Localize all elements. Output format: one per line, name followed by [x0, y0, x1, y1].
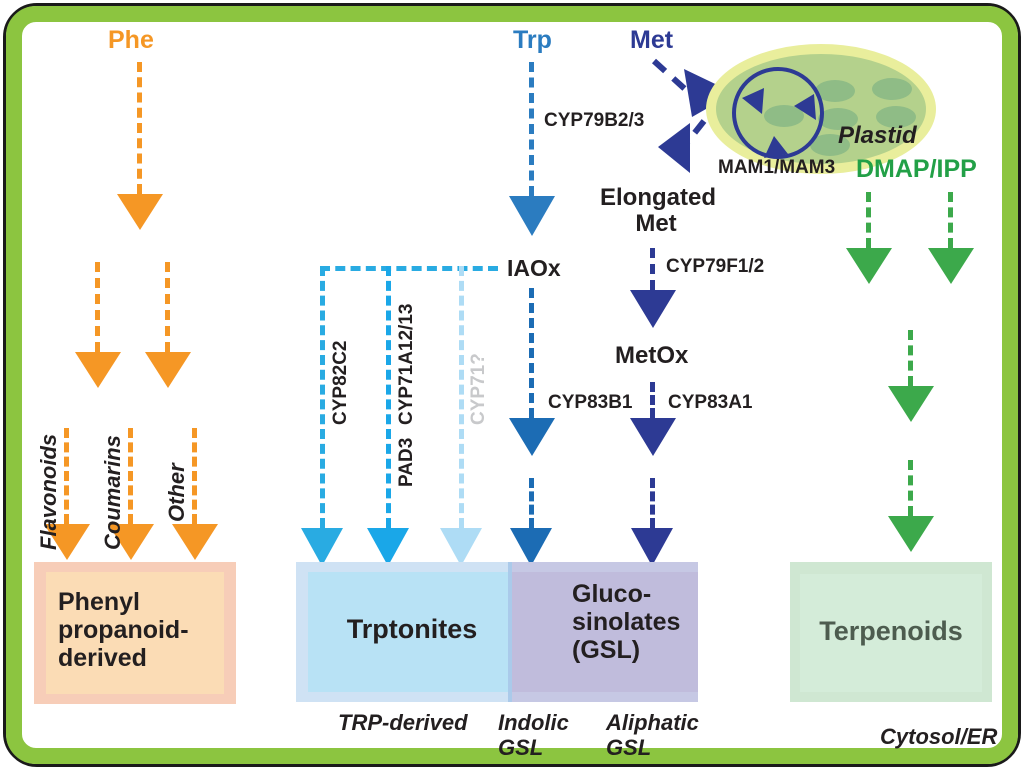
caption-aliphatic-gsl: Aliphatic GSL — [606, 710, 699, 761]
caption-aliphatic-gsl-line-1: Aliphatic — [606, 710, 699, 735]
phe-arrow-stem-2b — [165, 262, 170, 352]
intermediate-label-metox: MetOx — [615, 342, 688, 370]
phe-arrowhead-2b — [145, 352, 191, 388]
cyp83a1-stem-1 — [650, 382, 655, 418]
dmap-arrow-stem — [866, 192, 871, 248]
cyp83a1-stem-2 — [650, 478, 655, 528]
terpenoid-arrow-stem-2 — [908, 330, 913, 386]
branch-label-other: Other — [164, 463, 190, 522]
dmap-arrowhead — [846, 248, 892, 284]
organelle-label-plastid: Plastid — [838, 122, 917, 150]
caption-indolic-gsl-line-1: Indolic — [498, 710, 569, 735]
cyp83a1-arrowhead-1 — [630, 418, 676, 456]
phe-arrow-stem-3a — [64, 428, 69, 524]
caption-aliphatic-gsl-line-2: GSL — [606, 735, 699, 760]
elongated-met-line-2: Met — [600, 211, 712, 237]
branch-label-flavonoids: Flavonoids — [36, 434, 62, 550]
enzyme-label-cyp79b2-3: CYP79B2/3 — [544, 110, 644, 132]
trp-arrow-stem — [529, 62, 534, 196]
cyp79f1-2-stem — [650, 248, 655, 290]
gsl-line-2: sinolates — [572, 608, 702, 636]
enzyme-label-cyp83b1: CYP83B1 — [548, 392, 633, 414]
phe-arrowhead-2a — [75, 352, 121, 388]
enzyme-label-mam1-mam3: MAM1/MAM3 — [718, 157, 835, 179]
branch-label-coumarins: Coumarins — [100, 435, 126, 550]
mam-elongation-cycle — [718, 58, 838, 168]
precursor-label-dmap-ipp: DMAP/IPP — [856, 155, 977, 184]
intermediate-label-iaox: IAOx — [507, 255, 561, 282]
phe-arrow-stem-1 — [137, 62, 142, 194]
product-box-glucosinolates-label: Gluco- sinolates (GSL) — [572, 580, 702, 664]
caption-cytosol-er: Cytosol/ER — [880, 724, 997, 750]
phe-arrow-stem-2a — [95, 262, 100, 352]
enzyme-label-cyp82c2: CYP82C2 — [330, 341, 352, 426]
cyp71a12-branch-stem — [386, 266, 391, 528]
precursor-label-phe: Phe — [108, 26, 154, 55]
pathway-figure: Phe Flavonoids Coumarins Other Phenyl pr… — [0, 0, 1030, 776]
trp-arrowhead — [509, 196, 555, 236]
enzyme-label-cyp71a12-13: CYP71A12/13 — [396, 304, 418, 425]
precursor-label-trp: Trp — [513, 26, 552, 55]
product-box-trptonites-label: Trptonites — [308, 614, 516, 644]
thylakoid-2 — [872, 78, 912, 100]
intermediate-label-elongated-met: Elongated Met — [600, 185, 712, 238]
phe-arrow-stem-3b — [128, 428, 133, 524]
product-box-phenylpropanoid-label: Phenyl propanoid- derived — [58, 588, 228, 672]
cyp82c2-branch-stem — [320, 266, 325, 528]
phe-arrow-stem-3c — [192, 428, 197, 524]
precursor-label-met: Met — [630, 26, 673, 55]
elongated-met-line-1: Elongated — [600, 185, 712, 211]
pp-line-1: Phenyl — [58, 588, 228, 616]
cyp71a12-arrowhead — [367, 528, 409, 566]
cyp83b1-stem-2 — [529, 478, 534, 528]
pp-line-3: derived — [58, 644, 228, 672]
phe-arrowhead-3c — [172, 524, 218, 560]
cyp71-unknown-branch-stem — [459, 266, 464, 528]
ipp-arrowhead — [928, 248, 974, 284]
terpenoid-arrow-stem-3 — [908, 460, 913, 516]
cyp79f1-2-arrowhead — [630, 290, 676, 328]
enzyme-label-pad3: PAD3 — [396, 438, 418, 487]
ipp-arrow-stem — [948, 192, 953, 248]
cyp83b1-stem-1 — [529, 288, 534, 418]
pp-line-2: propanoid- — [58, 616, 228, 644]
enzyme-label-cyp79f1-2: CYP79F1/2 — [666, 256, 764, 278]
cyp71-unknown-arrowhead — [440, 528, 482, 566]
cyp82c2-arrowhead — [301, 528, 343, 566]
terpenoid-arrowhead-3 — [888, 516, 934, 552]
cyp83b1-arrowhead-2 — [510, 528, 552, 566]
cyp83a1-arrowhead-2 — [631, 528, 673, 566]
enzyme-label-cyp83a1: CYP83A1 — [668, 392, 753, 414]
caption-trp-derived: TRP-derived — [338, 710, 468, 736]
iaox-distributor-line — [320, 266, 498, 271]
enzyme-label-cyp71-unknown: CYP71? — [468, 353, 490, 425]
gsl-line-1: Gluco- — [572, 580, 702, 608]
caption-indolic-gsl-line-2: GSL — [498, 735, 569, 760]
terpenoid-arrowhead-2 — [888, 386, 934, 422]
caption-indolic-gsl: Indolic GSL — [498, 710, 569, 761]
gsl-line-3: (GSL) — [572, 636, 702, 664]
product-box-terpenoids-label: Terpenoids — [800, 616, 982, 646]
phe-arrowhead-1 — [117, 194, 163, 230]
cyp83b1-arrowhead-1 — [509, 418, 555, 456]
